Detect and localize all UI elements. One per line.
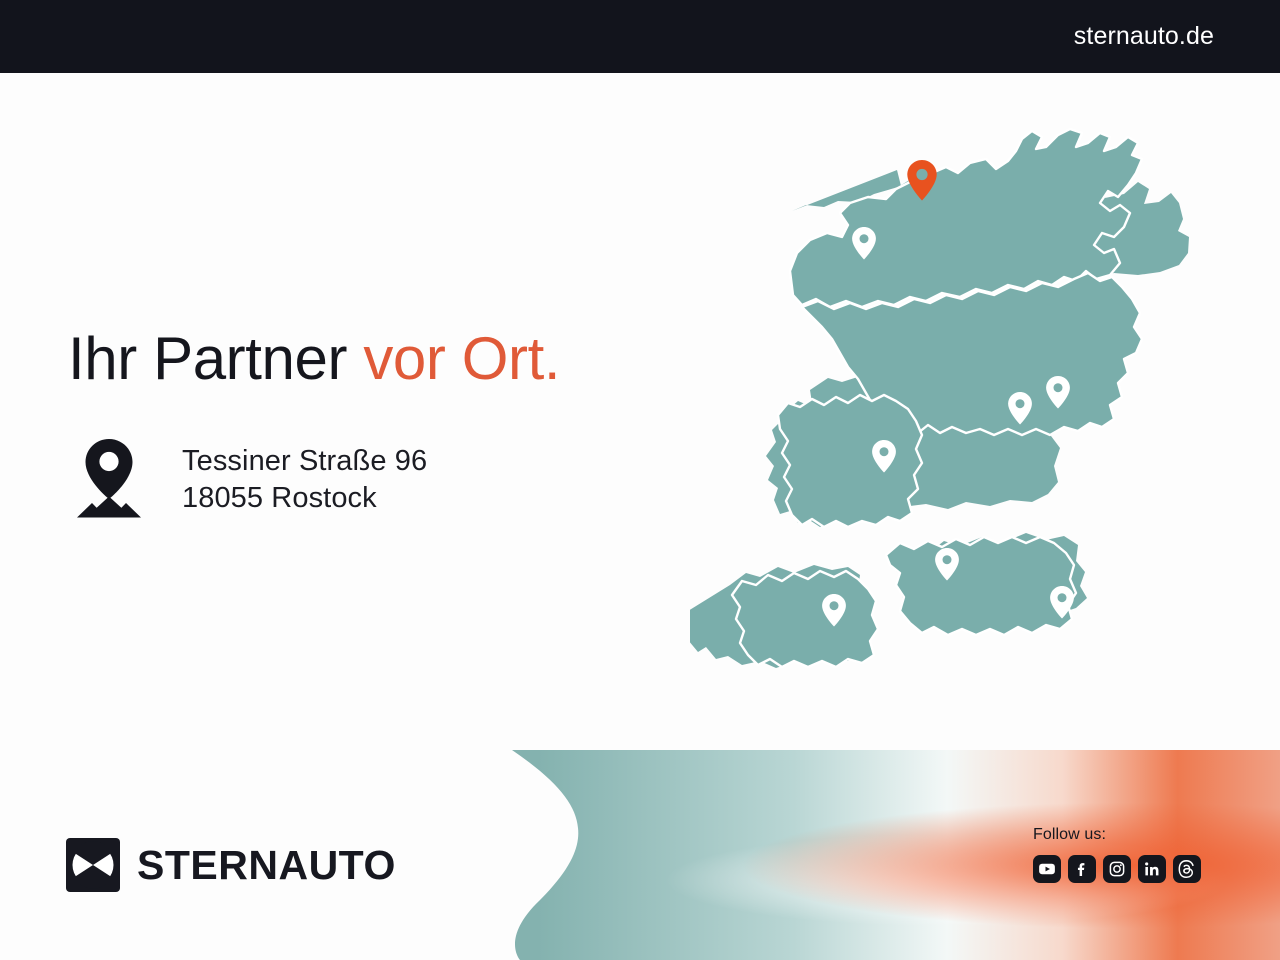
top-header-bar: sternauto.de <box>0 0 1280 73</box>
threads-icon[interactable] <box>1173 855 1201 883</box>
address-city: 18055 Rostock <box>182 480 427 517</box>
follow-us-block: Follow us: <box>1033 826 1233 883</box>
address-block: Tessiner Straße 96 18055 Rostock <box>72 437 427 519</box>
slide-root: sternauto.de Ihr Partner vor Ort. Tessin… <box>0 0 1280 960</box>
page-title-accent: vor Ort. <box>363 325 560 392</box>
instagram-icon[interactable] <box>1103 855 1131 883</box>
dealer-location-map[interactable] <box>690 85 1220 745</box>
linkedin-icon[interactable] <box>1138 855 1166 883</box>
youtube-icon[interactable] <box>1033 855 1061 883</box>
facebook-icon[interactable] <box>1068 855 1096 883</box>
page-title-primary: Ihr Partner <box>68 325 363 392</box>
follow-us-label: Follow us: <box>1033 826 1233 844</box>
sternauto-logo[interactable]: STERNAUTO <box>66 838 396 892</box>
location-pin-icon <box>72 437 146 519</box>
address-text: Tessiner Straße 96 18055 Rostock <box>182 437 427 516</box>
address-street: Tessiner Straße 96 <box>182 443 427 480</box>
sternauto-logo-mark-icon <box>66 838 120 892</box>
page-title: Ihr Partner vor Ort. <box>68 326 560 392</box>
sternauto-wordmark: STERNAUTO <box>137 845 396 886</box>
social-links-row <box>1033 855 1233 883</box>
site-url-label: sternauto.de <box>1074 22 1280 51</box>
